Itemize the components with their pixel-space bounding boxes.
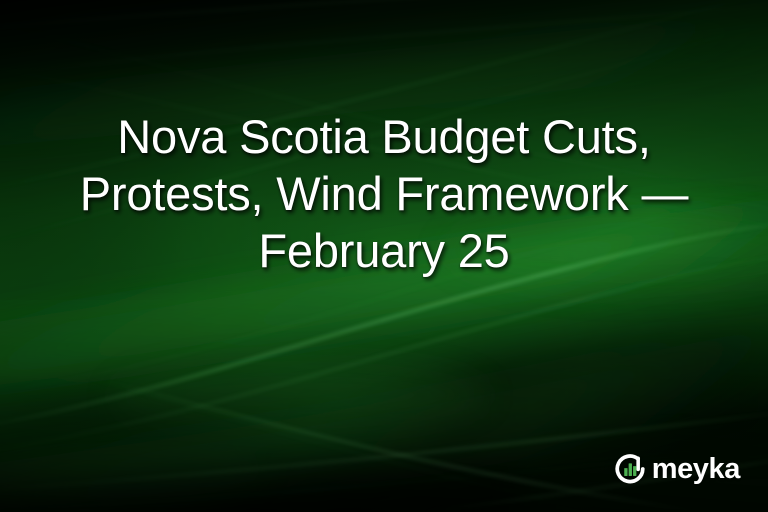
page-title: Nova Scotia Budget Cuts, Protests, Wind … <box>0 108 768 279</box>
meyka-logo[interactable]: meyka <box>613 452 740 486</box>
meyka-circle-bar-chart-icon <box>613 452 647 486</box>
social-share-card: Nova Scotia Budget Cuts, Protests, Wind … <box>0 0 768 512</box>
logo-wordmark: meyka <box>652 455 740 484</box>
